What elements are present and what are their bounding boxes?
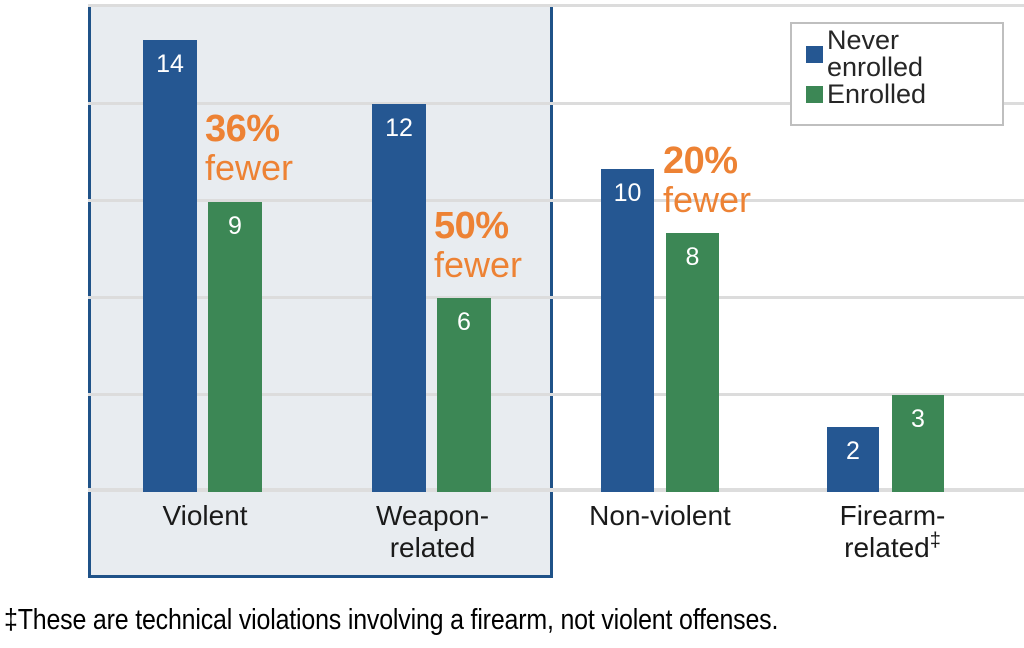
bar-violent-never-enrolled[interactable]: 14	[143, 40, 197, 492]
legend-item-never-enrolled[interactable]: Never enrolled	[806, 34, 1002, 74]
x-axis-label-non-violent: Non-violent	[555, 500, 765, 532]
grouped-bar-chart: 14 9 12 6 10 8 2 3 36% fewer 50%	[0, 0, 1024, 648]
annotation-percent: 36%	[205, 110, 293, 148]
bar-value-label: 8	[666, 245, 719, 270]
bar-non-violent-enrolled[interactable]: 8	[666, 233, 719, 492]
bar-value-label: 2	[827, 439, 879, 464]
x-axis-label-weapon-related: Weapon- related	[325, 500, 540, 564]
footnote-marker: ‡	[930, 530, 941, 552]
footnote: ‡These are technical violations involvin…	[4, 604, 878, 637]
bar-value-label: 10	[601, 181, 654, 206]
annotation-text: fewer	[434, 247, 522, 283]
x-axis-label-line1: Firearm-	[785, 500, 1000, 532]
x-axis-label-line1: Non-violent	[555, 500, 765, 532]
legend: Never enrolled Enrolled	[790, 22, 1004, 126]
x-axis-label-line2: related	[325, 532, 540, 564]
x-axis-label-line1: Weapon-	[325, 500, 540, 532]
x-axis-label-firearm-related: Firearm- related‡	[785, 500, 1000, 564]
legend-label: Never enrolled	[827, 27, 1002, 81]
bar-firearm-related-enrolled[interactable]: 3	[892, 395, 944, 492]
bar-value-label: 6	[437, 310, 491, 335]
x-axis-label-line2-text: related	[844, 532, 930, 563]
legend-label: Enrolled	[827, 81, 926, 108]
x-axis-label-line1: Violent	[100, 500, 310, 532]
legend-swatch-icon	[806, 46, 823, 63]
bar-weapon-related-enrolled[interactable]: 6	[437, 298, 491, 492]
annotation-weapon-related-reduction: 50% fewer	[434, 207, 522, 283]
bar-firearm-related-never-enrolled[interactable]: 2	[827, 427, 879, 492]
annotation-text: fewer	[205, 150, 293, 186]
annotation-percent: 50%	[434, 207, 522, 245]
annotation-text: fewer	[663, 182, 751, 218]
bar-weapon-related-never-enrolled[interactable]: 12	[372, 104, 426, 492]
annotation-percent: 20%	[663, 142, 751, 180]
bar-violent-enrolled[interactable]: 9	[208, 202, 262, 492]
bar-value-label: 9	[208, 214, 262, 239]
annotation-non-violent-reduction: 20% fewer	[663, 142, 751, 218]
legend-swatch-icon	[806, 86, 823, 103]
bar-non-violent-never-enrolled[interactable]: 10	[601, 169, 654, 492]
gridline-15	[88, 4, 1024, 7]
bar-value-label: 3	[892, 407, 944, 432]
bar-value-label: 12	[372, 116, 426, 141]
x-axis-label-violent: Violent	[100, 500, 310, 532]
annotation-violent-reduction: 36% fewer	[205, 110, 293, 186]
bar-value-label: 14	[143, 52, 197, 77]
x-axis-label-line2: related‡	[785, 532, 1000, 564]
